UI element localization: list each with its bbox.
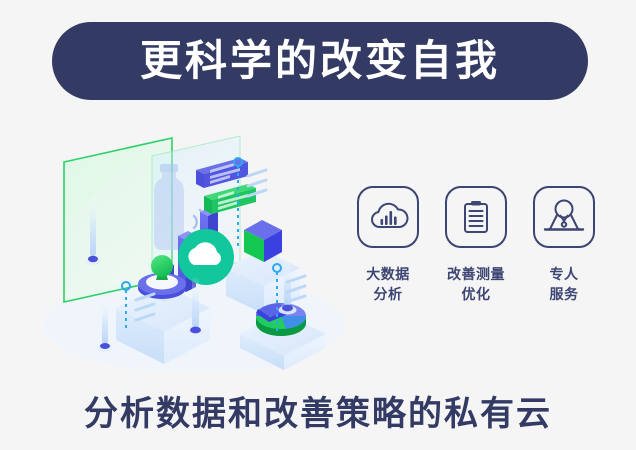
support-agent-icon — [541, 195, 587, 239]
cloud-bar-chart-icon — [366, 195, 410, 239]
banner-root: 更科学的改变自我 — [0, 0, 636, 450]
clipboard-icon — [454, 195, 498, 239]
feature-item-dedicated-service[interactable]: 专人 服务 — [528, 186, 600, 336]
support-agent-icon-box — [533, 186, 595, 248]
feature-label-improvement-measurement: 改善测量 优化 — [447, 264, 505, 305]
isometric-data-platform-illustration — [44, 120, 344, 370]
feature-item-big-data-analysis[interactable]: 大数据 分析 — [352, 186, 424, 336]
page-title: 更科学的改变自我 — [140, 40, 500, 82]
feature-label-big-data-analysis: 大数据 分析 — [366, 264, 410, 305]
cloud-bar-chart-icon-box — [357, 186, 419, 248]
feature-label-dedicated-service: 专人 服务 — [550, 264, 579, 305]
cloud-badge — [178, 229, 234, 285]
isometric-cube — [244, 220, 282, 262]
title-banner-pill: 更科学的改变自我 — [52, 22, 588, 100]
feature-list: 大数据 分析 改善测量 优化 — [352, 186, 600, 336]
clipboard-icon-box — [445, 186, 507, 248]
page-tagline: 分析数据和改善策略的私有云 — [0, 386, 636, 435]
feature-item-improvement-measurement[interactable]: 改善测量 优化 — [440, 186, 512, 336]
